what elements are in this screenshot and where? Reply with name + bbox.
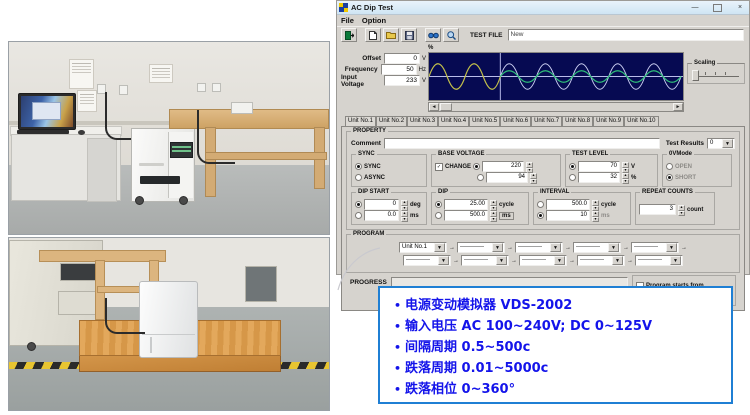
dut-cable [105,298,145,334]
program-select-1-3-value: ------------ [516,243,550,252]
tab-unit-6[interactable]: Unit No.6 [500,116,531,126]
program-arrow: → [511,258,517,264]
cabinet-door [58,291,100,315]
base-voltage-spinner-1[interactable]: ▲▼ [526,162,533,171]
wall-outlet [212,83,221,92]
frequency-label: Frequency [345,66,378,73]
dip-start-row-1: 0 ▲▼ deg [355,199,423,210]
interval-input-2[interactable]: 10 [546,210,590,221]
comment-row: Comment Test Results 0 ▼ [351,138,735,149]
photo-panel [0,0,336,415]
power-cable [105,92,131,140]
program-arrow: → [453,258,459,264]
menu-bar: File Option [337,15,749,26]
dip-start-unit-1: deg [410,202,421,208]
program-row-1: Unit No.1 ▼ → ------------ ▼ → ---------… [351,242,735,253]
appliance-handle [150,337,152,353]
chevron-down-icon[interactable]: ▼ [612,256,623,265]
bullet-icon: • [394,337,405,358]
repeat-counts-spinner[interactable]: ▲▼ [678,205,685,214]
program-title: PROGRAM [351,231,386,237]
async-label: ASYNC [364,175,385,181]
async-radio[interactable] [355,174,362,181]
interval-input-1[interactable]: 500.0 [546,199,590,210]
save-file-icon[interactable] [401,28,417,42]
scaling-group: Scaling [687,63,745,84]
dip-start-group: DIP START 0 ▲▼ deg 0.0 ▲▼ ms [351,192,427,225]
bullet-icon: • [394,379,405,400]
test-level-unit-2: % [631,175,636,181]
dip-row-1: 25.00 ▲▼ cycle [435,199,525,210]
tab-unit-9[interactable]: Unit No.9 [593,116,624,126]
input-voltage-unit: V [422,78,426,84]
preview-icon[interactable] [425,28,441,42]
spec-line-text: 间隔周期 0.5~500c [405,337,530,358]
interval-unit-1: cycle [601,202,616,208]
ov-mode-group: 0VMode OPEN SHORT [662,154,732,187]
dehumidifier-dut [139,281,198,358]
scaling-title: Scaling [692,60,717,66]
program-arrow: → [449,245,455,251]
frequency-unit: Hz [419,67,426,73]
settings-row-1: SYNC SYNC ASYNC BASE VOLTAGE ✓ CHANGE [351,154,735,187]
test-level-row-1: 70 ▲▼ V [569,161,654,172]
base-voltage-change-checkbox[interactable]: ✓ [435,163,443,171]
dip-unit-1: cycle [499,202,514,208]
interval-title: INTERVAL [538,189,571,195]
chevron-down-icon[interactable]: ▼ [438,256,449,265]
wall-note [149,64,173,83]
window-controls: — × [690,3,747,12]
chevron-down-icon[interactable]: ▼ [496,256,507,265]
wall-note [77,90,97,112]
dip-spinner-1[interactable]: ▲▼ [490,200,497,209]
test-level-row-2: 32 ▲▼ % [569,172,654,183]
appliance-seam [142,334,195,335]
waveform-y-axis-label: % [428,45,684,52]
program-arrow: → [569,258,575,264]
unit-tabs: Unit No.1 Unit No.2 Unit No.3 Unit No.4 … [345,116,745,126]
test-level-unit-1: V [631,164,635,170]
program-select-1-1-value: Unit No.1 [400,243,434,252]
bullet-icon: • [394,358,405,379]
program-group: PROGRAM Unit No.1 ▼ → ------------ ▼ → -… [346,234,740,273]
spec-line: • 输入电压 AC 100~240V; DC 0~125V [394,316,731,337]
tool-bar: TEST FILE New [337,26,749,43]
spec-line: • 电源变动模拟器 VDS-2002 [394,295,731,316]
ov-mode-title: 0VMode [667,151,694,157]
tab-unit-10[interactable]: Unit No.10 [624,116,658,126]
program-select-2-3[interactable]: ------------ ▼ [519,255,567,266]
vds-simulator-cart [131,128,195,202]
program-row-2: ------------ ▼ → ------------ ▼ → ------… [351,255,735,266]
spec-line: • 间隔周期 0.5~500c [394,337,731,358]
tab-unit-7[interactable]: Unit No.7 [531,116,562,126]
input-voltage-label: Input Voltage [341,74,381,88]
cart-control-panel [170,142,193,158]
program-select-2-1-value: ------------ [404,256,438,265]
repeat-counts-title: REPEAT COUNTS [640,189,695,195]
base-voltage-row-2: 94 ▲▼ [435,172,557,183]
base-voltage-input-2[interactable]: 94 [486,172,528,183]
slider-track [693,76,739,77]
spec-line-text: 输入电压 AC 100~240V; DC 0~125V [405,316,652,337]
chevron-down-icon[interactable]: ▼ [722,139,733,148]
slider-tick [725,72,726,75]
repeat-counts-unit: count [687,207,703,213]
interval-spinner-2[interactable]: ▲▼ [592,211,599,220]
offset-label: Offset [362,55,381,62]
ov-mode-short-label: SHORT [675,175,696,181]
interval-group: INTERVAL 500.0 ▲▼ cycle 10 ▲▼ ms [533,192,631,225]
spec-line-text: 跌落相位 0~360° [405,379,515,400]
program-arrow: → [623,245,629,251]
spec-line-text: 电源变动模拟器 VDS-2002 [405,295,572,316]
monitor-screen [21,96,73,127]
base-voltage-row-1: ✓ CHANGE 220 ▲▼ [435,161,557,172]
test-level-radio-2[interactable] [569,174,576,181]
dip-spinner-2[interactable]: ▲▼ [490,211,497,220]
spec-line: • 跌落周期 0.01~5000c [394,358,731,379]
repeat-counts-input[interactable]: 3 [639,204,676,215]
slider-thumb[interactable] [692,70,699,81]
waveform-area: % ◄ ► [428,45,684,112]
scroll-right-icon[interactable]: ► [673,103,683,111]
cart-wheel [179,196,188,205]
base-voltage-radio-2[interactable] [477,174,484,181]
cabinet-wheel [27,342,36,351]
chevron-down-icon[interactable]: ▼ [550,243,561,252]
interval-spinner-1[interactable]: ▲▼ [592,200,599,209]
scaling-slider[interactable] [691,69,741,80]
base-voltage-group: BASE VOLTAGE ✓ CHANGE 220 ▲▼ 94 ▲▼ [431,154,561,187]
background-panel [245,266,277,302]
test-results-select[interactable]: 0 ▼ [707,138,735,149]
sync-option-async[interactable]: ASYNC [355,172,423,183]
interval-row-1: 500.0 ▲▼ cycle [537,199,627,210]
test-level-title: TEST LEVEL [570,151,610,157]
dip-input-1[interactable]: 25.00 [444,199,488,210]
menu-file[interactable]: File [341,16,354,25]
tab-unit-3[interactable]: Unit No.3 [407,116,438,126]
program-select-1-2-value: ------------ [458,243,492,252]
program-select-1-2[interactable]: ------------ ▼ [457,242,505,253]
comment-label: Comment [351,140,381,147]
tab-unit-4[interactable]: Unit No.4 [438,116,469,126]
spec-line-text: 跌落周期 0.01~5000c [405,358,548,379]
dip-start-input-1[interactable]: 0 [364,199,399,210]
unit-panel: PROPERTY Comment Test Results 0 ▼ SYNC S… [341,126,745,311]
repeat-counts-row: 3 ▲▼ count [639,204,711,215]
dip-start-unit-2: ms [410,213,419,219]
cabinet-panel [60,263,98,281]
sync-radio[interactable] [355,163,362,170]
new-file-icon[interactable] [365,28,381,42]
dip-start-spinner-2[interactable]: ▲▼ [401,211,408,220]
waveform-row: Offset 0 V Frequency 50 Hz Input Voltage… [337,43,749,112]
dip-radio-2[interactable] [435,212,442,219]
monitor [18,93,76,130]
chevron-down-icon[interactable]: ▼ [608,243,619,252]
scrollbar-thumb[interactable] [440,103,452,111]
program-select-1-5[interactable]: ------------ ▼ [631,242,679,253]
sync-title: SYNC [356,151,377,157]
program-arrow: → [627,258,633,264]
program-select-1-4[interactable]: ------------ ▼ [573,242,621,253]
tab-unit-2[interactable]: Unit No.2 [376,116,407,126]
program-select-2-5[interactable]: ------------ ▼ [635,255,683,266]
desk-shelf [87,138,117,202]
interval-radio-1[interactable] [537,201,544,208]
dip-start-input-2[interactable]: 0.0 [364,210,399,221]
menu-option[interactable]: Option [362,16,386,25]
sync-group: SYNC SYNC ASYNC [351,154,427,187]
minimize-icon[interactable]: — [690,3,700,12]
test-results-value: 0 [708,139,722,148]
program-select-2-2[interactable]: ------------ ▼ [461,255,509,266]
sync-label: SYNC [364,164,381,170]
ac-dip-test-window: AC Dip Test — × File Option [336,0,750,275]
test-level-input-1[interactable]: 70 [578,161,620,172]
chevron-down-icon[interactable]: ▼ [554,256,565,265]
frequency-input[interactable]: 50 [381,64,417,75]
dip-title: DIP [436,189,450,195]
property-title: PROPERTY [351,128,388,134]
base-voltage-input-1[interactable]: 220 [482,161,524,172]
wall-note [69,59,94,89]
cart-slot [140,176,180,184]
dip-start-row-2: 0.0 ▲▼ ms [355,210,423,221]
chevron-down-icon[interactable]: ▼ [670,256,681,265]
waveform-plot[interactable] [428,52,684,101]
test-level-input-2[interactable]: 32 [578,172,620,183]
ov-mode-open-radio[interactable] [666,163,673,170]
dip-radio-1[interactable] [435,201,442,208]
offset-unit: V [422,56,426,62]
scroll-left-icon[interactable]: ◄ [429,103,439,111]
scaling-area: Scaling [684,45,745,112]
property-group: PROPERTY Comment Test Results 0 ▼ SYNC S… [346,131,740,230]
program-select-1-1[interactable]: Unit No.1 ▼ [399,242,447,253]
dip-start-radio-1[interactable] [355,201,362,208]
program-select-1-5-value: ------------ [632,243,666,252]
test-level-radio-1[interactable] [569,163,576,170]
spec-callout-box: • 电源变动模拟器 VDS-2002 • 输入电压 AC 100~240V; D… [378,286,733,404]
program-select-2-5-value: ------------ [636,256,670,265]
test-results-label: Test Results [666,140,704,147]
spec-line: • 跌落相位 0~360° [394,379,731,400]
base-voltage-spinner-2[interactable]: ▲▼ [530,173,537,182]
slider-tick [715,72,716,75]
base-voltage-radio-1[interactable] [473,163,480,170]
program-arrow: → [507,245,513,251]
tab-unit-8[interactable]: Unit No.8 [562,116,593,126]
title-bar: AC Dip Test — × [337,1,749,15]
exit-icon[interactable] [341,28,357,42]
input-voltage-input[interactable]: 233 [384,75,420,86]
waveform-svg [429,53,683,100]
settings-row-2: DIP START 0 ▲▼ deg 0.0 ▲▼ ms [351,192,735,225]
lab-overview-photo [8,41,330,235]
chevron-down-icon[interactable]: ▼ [666,243,677,252]
test-file-label: TEST FILE [470,32,503,39]
tab-unit-5[interactable]: Unit No.5 [469,116,500,126]
zoom-icon[interactable] [443,28,459,42]
tab-unit-1[interactable]: Unit No.1 [345,116,376,126]
program-select-2-4[interactable]: ------------ ▼ [577,255,625,266]
dip-start-title: DIP START [356,189,391,195]
program-select-2-3-value: ------------ [520,256,554,265]
dip-start-radio-2[interactable] [355,212,362,219]
wall-outlet [197,83,206,92]
program-select-2-2-value: ------------ [462,256,496,265]
repeat-counts-group: REPEAT COUNTS 3 ▲▼ count [635,192,715,225]
program-select-2-4-value: ------------ [578,256,612,265]
dip-input-2[interactable]: 500.0 [444,210,488,221]
program-select-2-1[interactable]: ------------ ▼ [403,255,451,266]
dut-on-platform-photo [8,237,330,411]
chevron-down-icon[interactable]: ▼ [492,243,503,252]
dip-group: DIP 25.00 ▲▼ cycle 500.0 ▲▼ ms [431,192,529,225]
mouse [78,130,85,135]
interval-radio-2[interactable] [537,212,544,219]
test-file-input[interactable]: New [508,29,745,41]
base-voltage-title: BASE VOLTAGE [436,151,486,157]
ov-mode-open-label: OPEN [675,164,692,170]
program-arrow: → [565,245,571,251]
keyboard [17,130,69,134]
dip-unit-2[interactable]: ms [499,212,514,220]
input-voltage-row: Input Voltage 233 V [341,75,426,86]
chevron-down-icon[interactable]: ▼ [434,243,445,252]
offset-input[interactable]: 0 [384,53,420,64]
base-voltage-change-label: CHANGE [445,164,471,170]
ov-mode-option-open[interactable]: OPEN [666,161,728,172]
interval-row-2: 10 ▲▼ ms [537,210,627,221]
bullet-icon: • [394,295,405,316]
program-select-1-4-value: ------------ [574,243,608,252]
comment-input[interactable] [384,138,660,149]
cart-wheel [135,196,144,205]
interval-unit-2: ms [601,213,610,219]
slider-tick [705,72,706,75]
test-level-group: TEST LEVEL 70 ▲▼ V 32 ▲▼ % [565,154,658,187]
app-flag-icon [339,3,348,12]
maximize-icon[interactable] [713,4,722,12]
dip-row-2: 500.0 ▲▼ ms [435,210,525,221]
cart-handle [139,163,164,166]
callout-connector [336,246,380,292]
sync-option-sync[interactable]: SYNC [355,161,423,172]
monitor-window [32,102,61,120]
test-level-spinner-1[interactable]: ▲▼ [622,162,629,171]
window-title: AC Dip Test [351,3,393,12]
waveform-scrollbar[interactable]: ◄ ► [428,102,684,112]
source-values: Offset 0 V Frequency 50 Hz Input Voltage… [341,45,426,112]
close-icon[interactable]: × [735,3,745,12]
bullet-icon: • [394,316,405,337]
ov-mode-short-radio[interactable] [666,174,673,181]
dip-start-spinner-1[interactable]: ▲▼ [401,200,408,209]
ov-mode-option-short[interactable]: SHORT [666,172,728,183]
offset-row: Offset 0 V [341,53,426,64]
open-file-icon[interactable] [383,28,399,42]
program-arrow: → [681,245,687,251]
test-level-spinner-2[interactable]: ▲▼ [622,173,629,182]
sensor-cable [197,110,235,164]
program-select-1-3[interactable]: ------------ ▼ [515,242,563,253]
